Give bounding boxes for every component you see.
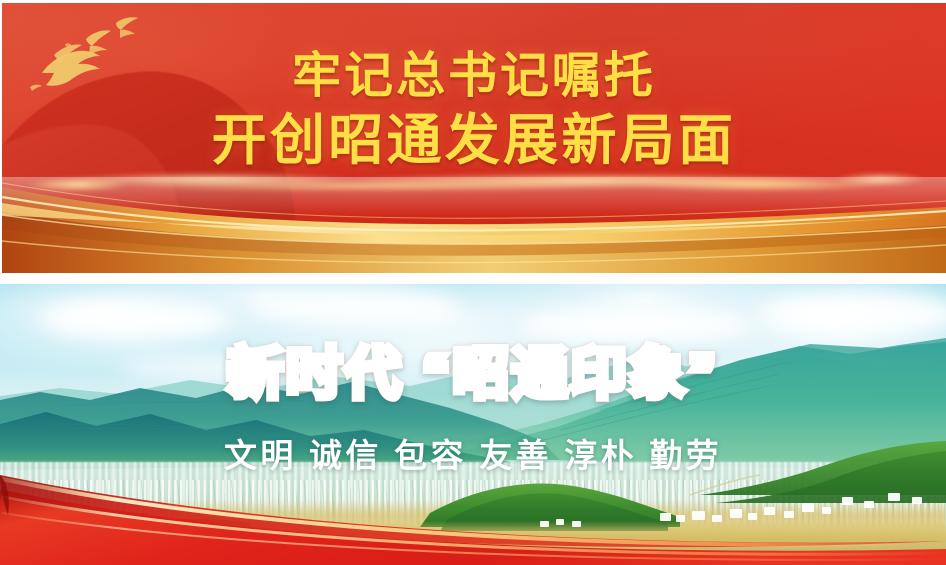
banner-composition: 牢记总书记嘱托 开创昭通发展新局面 (0, 0, 946, 565)
scenic-headline-text: 新时代 “昭通印象” (227, 342, 719, 406)
scenic-headline: 新时代 “昭通印象” (0, 342, 946, 406)
top-banner-title: 牢记总书记嘱托 开创昭通发展新局面 (2, 45, 946, 175)
top-red-banner: 牢记总书记嘱托 开创昭通发展新局面 (2, 3, 946, 273)
top-title-line-1: 牢记总书记嘱托 (2, 45, 946, 107)
red-ribbon-swoosh (0, 445, 946, 565)
bottom-scenic-banner: 新时代 “昭通印象” 文明 诚信 包容 友善 淳朴 勤劳 (0, 284, 946, 565)
top-title-line-2: 开创昭通发展新局面 (2, 107, 946, 175)
